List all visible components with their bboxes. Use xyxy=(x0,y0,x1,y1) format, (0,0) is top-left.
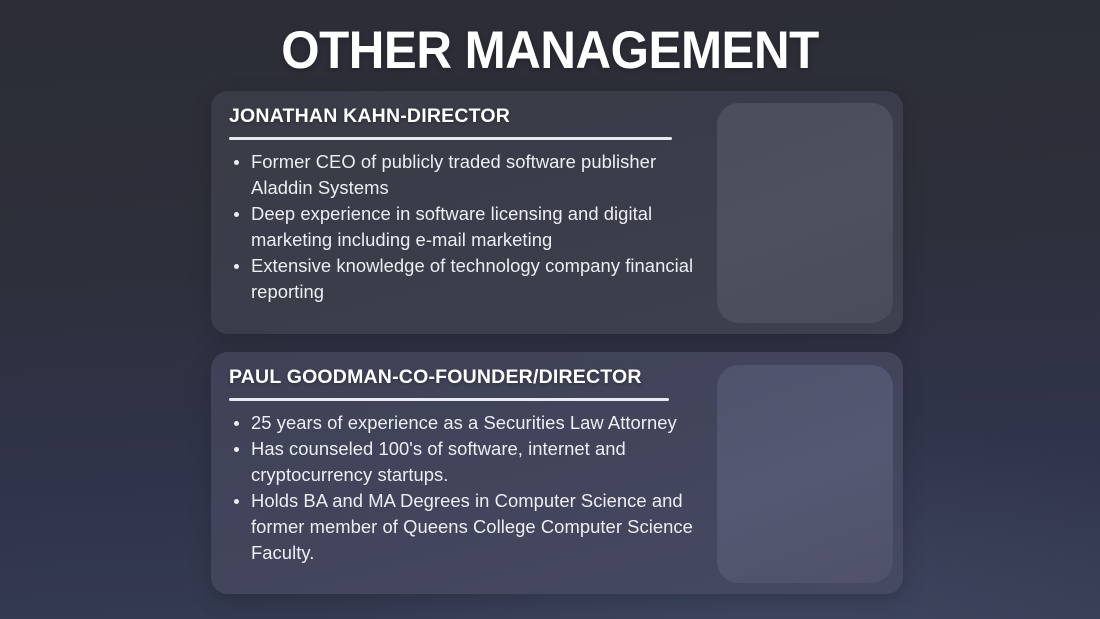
list-item: Deep experience in software licensing an… xyxy=(229,201,719,253)
page-title: OTHER MANAGEMENT xyxy=(39,22,1062,79)
slide-canvas: OTHER MANAGEMENT JONATHAN KAHN-DIRECTOR … xyxy=(0,0,1100,619)
list-item: 25 years of experience as a Securities L… xyxy=(229,410,719,436)
list-item: Former CEO of publicly traded software p… xyxy=(229,149,719,201)
list-item: Extensive knowledge of technology compan… xyxy=(229,253,719,305)
bullet-list: 25 years of experience as a Securities L… xyxy=(229,410,719,566)
list-item: Holds BA and MA Degrees in Computer Scie… xyxy=(229,488,719,566)
heading-divider xyxy=(229,398,669,401)
card-heading: PAUL GOODMAN-CO-FOUNDER/DIRECTOR xyxy=(229,366,719,389)
profile-card-paul-goodman: PAUL GOODMAN-CO-FOUNDER/DIRECTOR 25 year… xyxy=(211,352,903,594)
heading-divider xyxy=(229,137,672,140)
list-item: Has counseled 100's of software, interne… xyxy=(229,436,719,488)
card-heading: JONATHAN KAHN-DIRECTOR xyxy=(229,105,719,128)
card-body: JONATHAN KAHN-DIRECTOR Former CEO of pub… xyxy=(229,105,719,305)
portrait-placeholder xyxy=(717,365,893,583)
portrait-placeholder xyxy=(717,103,893,323)
bullet-list: Former CEO of publicly traded software p… xyxy=(229,149,719,305)
profile-card-jonathan-kahn: JONATHAN KAHN-DIRECTOR Former CEO of pub… xyxy=(211,91,903,334)
card-body: PAUL GOODMAN-CO-FOUNDER/DIRECTOR 25 year… xyxy=(229,366,719,566)
